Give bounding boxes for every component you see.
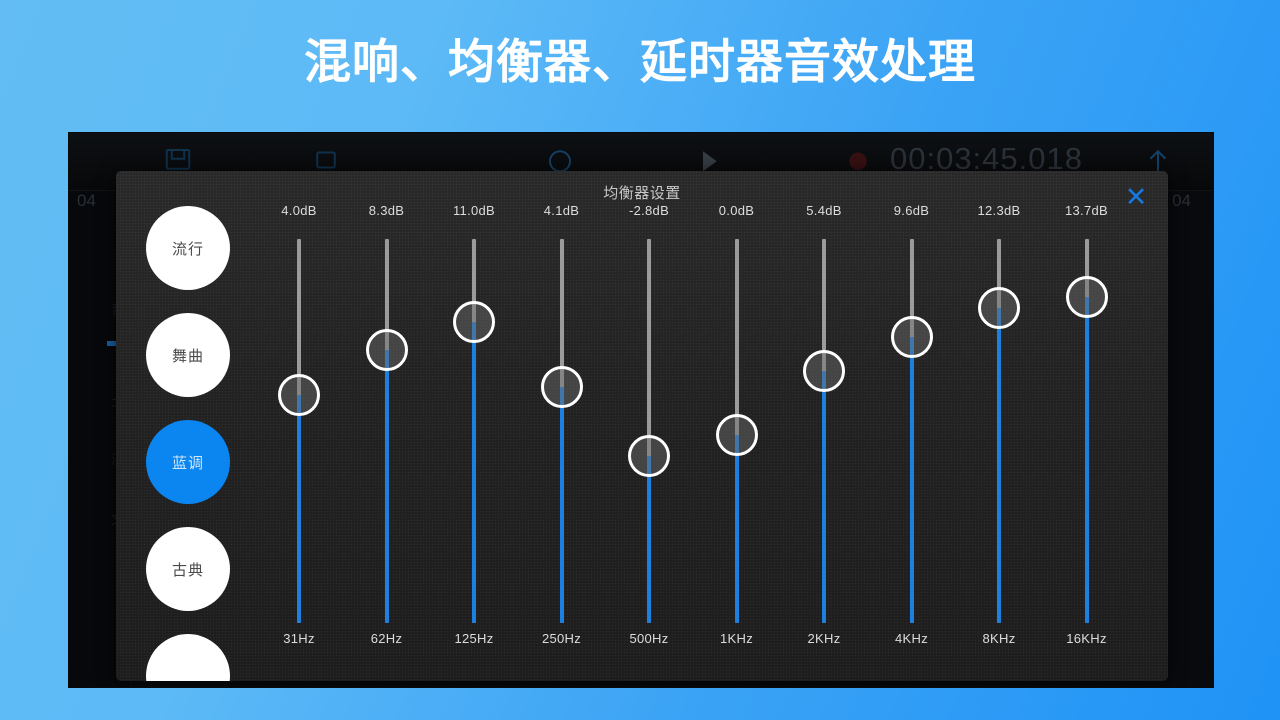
band-slider-track[interactable] — [910, 239, 914, 623]
band-slider-track[interactable] — [822, 239, 826, 623]
preset-label: 舞曲 — [172, 345, 204, 366]
band-value-label: 13.7dB — [1044, 203, 1130, 218]
preset-button-0[interactable]: 流行 — [146, 206, 230, 290]
band-slider-track[interactable] — [647, 239, 651, 623]
preset-button-1[interactable]: 舞曲 — [146, 313, 230, 397]
band-frequency-label: 4KHz — [869, 631, 955, 646]
band-slider-thumb[interactable] — [978, 287, 1020, 329]
band-slider-thumb[interactable] — [803, 350, 845, 392]
band-slider-thumb[interactable] — [716, 414, 758, 456]
band-slider-fill — [1085, 297, 1089, 623]
band-slider-track[interactable] — [997, 239, 1001, 623]
eq-band-31Hz: 4.0dB31Hz — [256, 171, 342, 681]
band-slider-fill — [910, 337, 914, 623]
band-slider-track[interactable] — [1085, 239, 1089, 623]
equalizer-dialog: 均衡器设置 ✕ 流行舞曲蓝调古典 4.0dB31Hz8.3dB62Hz11.0d… — [116, 171, 1168, 681]
band-value-label: 12.3dB — [956, 203, 1042, 218]
band-slider-fill — [647, 456, 651, 623]
preset-label: 蓝调 — [172, 452, 204, 473]
eq-band-8KHz: 12.3dB8KHz — [956, 171, 1042, 681]
ruler-mark-right: 04 — [1172, 191, 1191, 217]
eq-band-16KHz: 13.7dB16KHz — [1044, 171, 1130, 681]
equalizer-bands: 4.0dB31Hz8.3dB62Hz11.0dB125Hz4.1dB250Hz-… — [256, 171, 1168, 681]
band-value-label: 9.6dB — [869, 203, 955, 218]
band-slider-fill — [472, 322, 476, 623]
preset-label: 流行 — [172, 238, 204, 259]
band-slider-track[interactable] — [385, 239, 389, 623]
preset-button-3[interactable]: 古典 — [146, 527, 230, 611]
promo-background: 混响、均衡器、延时器音效处理 — [0, 0, 1280, 720]
band-value-label: 0.0dB — [694, 203, 780, 218]
band-value-label: 5.4dB — [781, 203, 867, 218]
band-frequency-label: 125Hz — [431, 631, 517, 646]
band-value-label: 11.0dB — [431, 203, 517, 218]
band-slider-fill — [735, 435, 739, 623]
preset-button-2[interactable]: 蓝调 — [146, 420, 230, 504]
eq-band-125Hz: 11.0dB125Hz — [431, 171, 517, 681]
band-slider-thumb[interactable] — [891, 316, 933, 358]
band-value-label: -2.8dB — [606, 203, 692, 218]
eq-band-500Hz: -2.8dB500Hz — [606, 171, 692, 681]
band-frequency-label: 31Hz — [256, 631, 342, 646]
band-slider-thumb[interactable] — [366, 329, 408, 371]
band-frequency-label: 500Hz — [606, 631, 692, 646]
preset-button-4[interactable] — [146, 634, 230, 681]
eq-band-4KHz: 9.6dB4KHz — [869, 171, 955, 681]
band-slider-track[interactable] — [735, 239, 739, 623]
band-slider-fill — [297, 395, 301, 623]
band-slider-thumb[interactable] — [541, 366, 583, 408]
promo-title: 混响、均衡器、延时器音效处理 — [0, 33, 1280, 92]
band-value-label: 4.1dB — [519, 203, 605, 218]
preset-label: 古典 — [172, 559, 204, 580]
band-slider-thumb[interactable] — [1066, 276, 1108, 318]
band-slider-thumb[interactable] — [278, 374, 320, 416]
band-frequency-label: 1KHz — [694, 631, 780, 646]
ruler-mark-left: 04 — [77, 191, 96, 217]
band-slider-fill — [385, 350, 389, 623]
band-frequency-label: 2KHz — [781, 631, 867, 646]
eq-band-1KHz: 0.0dB1KHz — [694, 171, 780, 681]
eq-band-2KHz: 5.4dB2KHz — [781, 171, 867, 681]
band-frequency-label: 250Hz — [519, 631, 605, 646]
band-value-label: 8.3dB — [344, 203, 430, 218]
band-slider-thumb[interactable] — [453, 301, 495, 343]
band-value-label: 4.0dB — [256, 203, 342, 218]
band-frequency-label: 8KHz — [956, 631, 1042, 646]
band-slider-track[interactable] — [472, 239, 476, 623]
band-frequency-label: 16KHz — [1044, 631, 1130, 646]
eq-band-250Hz: 4.1dB250Hz — [519, 171, 605, 681]
band-slider-thumb[interactable] — [628, 435, 670, 477]
band-slider-track[interactable] — [560, 239, 564, 623]
band-slider-fill — [997, 308, 1001, 623]
app-window: 00:03:45.018 T 音 土 汧 文 04 04 均衡器设置 ✕ 流行舞… — [68, 132, 1214, 688]
band-slider-fill — [822, 371, 826, 623]
band-slider-fill — [560, 387, 564, 623]
preset-list[interactable]: 流行舞曲蓝调古典 — [146, 206, 246, 681]
eq-band-62Hz: 8.3dB62Hz — [344, 171, 430, 681]
band-slider-track[interactable] — [297, 239, 301, 623]
band-frequency-label: 62Hz — [344, 631, 430, 646]
